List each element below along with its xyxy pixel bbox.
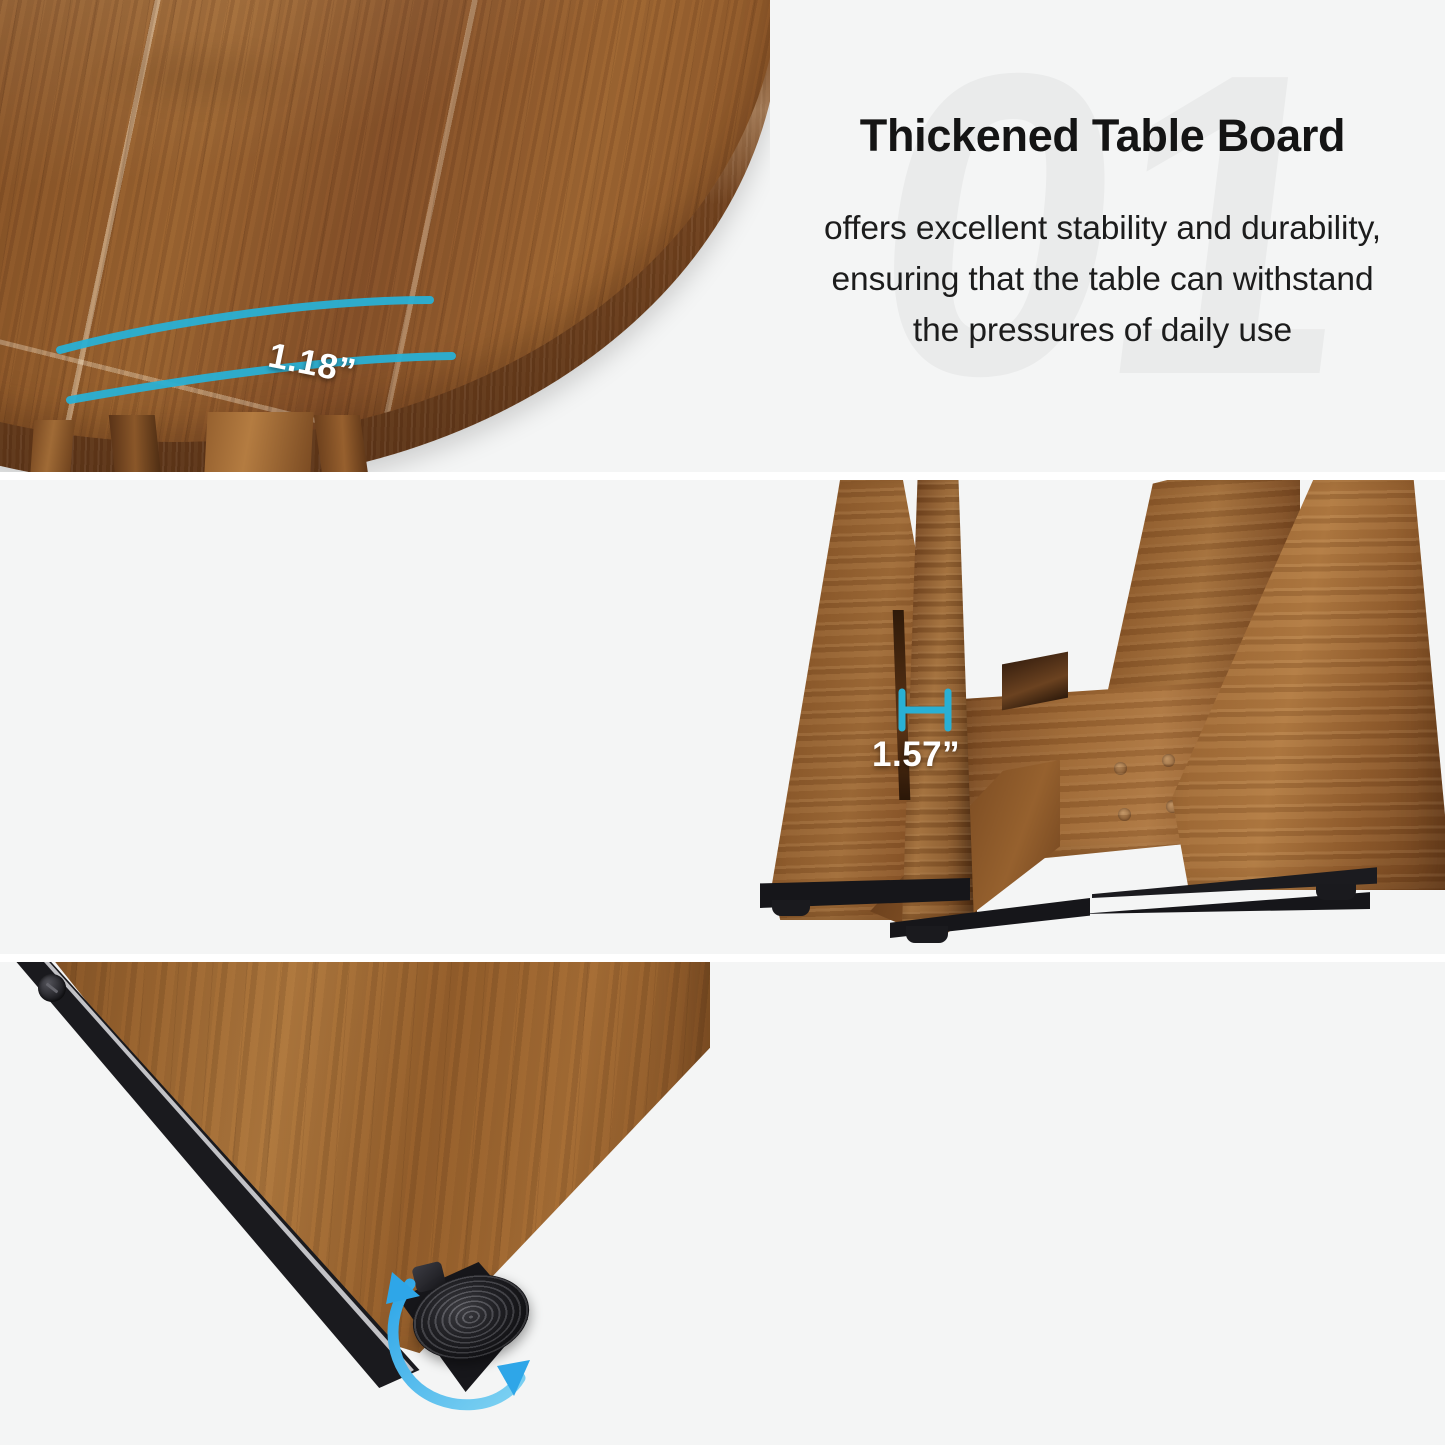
mounting-screw-icon bbox=[38, 974, 66, 1002]
table-leg-a bbox=[30, 420, 74, 472]
product-photo-table-top: 1.18” bbox=[0, 0, 770, 472]
feature-title-01: Thickened Table Board bbox=[760, 110, 1445, 162]
table-top-graphic bbox=[0, 0, 770, 442]
table-leg-c bbox=[204, 412, 313, 472]
base-thickness-callout-label: 1.57” bbox=[872, 735, 960, 775]
product-photo-foot-pad bbox=[0, 962, 780, 1445]
feature-body-01-line-3: the pressures of daily use bbox=[760, 306, 1445, 357]
foot-pad-right bbox=[1316, 884, 1356, 900]
feature-panel-01: 01 1.18” Thickened Table bbox=[0, 0, 1445, 472]
product-photo-table-base: 1.57” bbox=[720, 480, 1445, 954]
foot-pad-front bbox=[906, 926, 948, 943]
wood-figure-3 bbox=[50, 22, 350, 132]
foot-pad-left bbox=[772, 900, 810, 916]
feature-panel-02: 02 Stable Table Base maximizes support a… bbox=[0, 480, 1445, 954]
table-leg-b bbox=[109, 415, 162, 472]
feature-body-01-line-1: offers excellent stability and durabilit… bbox=[760, 204, 1445, 255]
feature-body-01-line-2: ensuring that the table can withstand bbox=[760, 255, 1445, 306]
feature-body-01: offers excellent stability and durabilit… bbox=[760, 204, 1445, 357]
screw-hole-2 bbox=[1162, 754, 1175, 767]
feature-panel-03: 03 bbox=[0, 962, 1445, 1445]
feature-text-01: Thickened Table Board offers excellent s… bbox=[760, 110, 1445, 356]
screw-hole-1 bbox=[1114, 762, 1127, 775]
infographic-sheet: 01 1.18” Thickened Table bbox=[0, 0, 1445, 1445]
table-leg-d bbox=[314, 415, 368, 472]
screw-hole-3 bbox=[1118, 808, 1131, 821]
